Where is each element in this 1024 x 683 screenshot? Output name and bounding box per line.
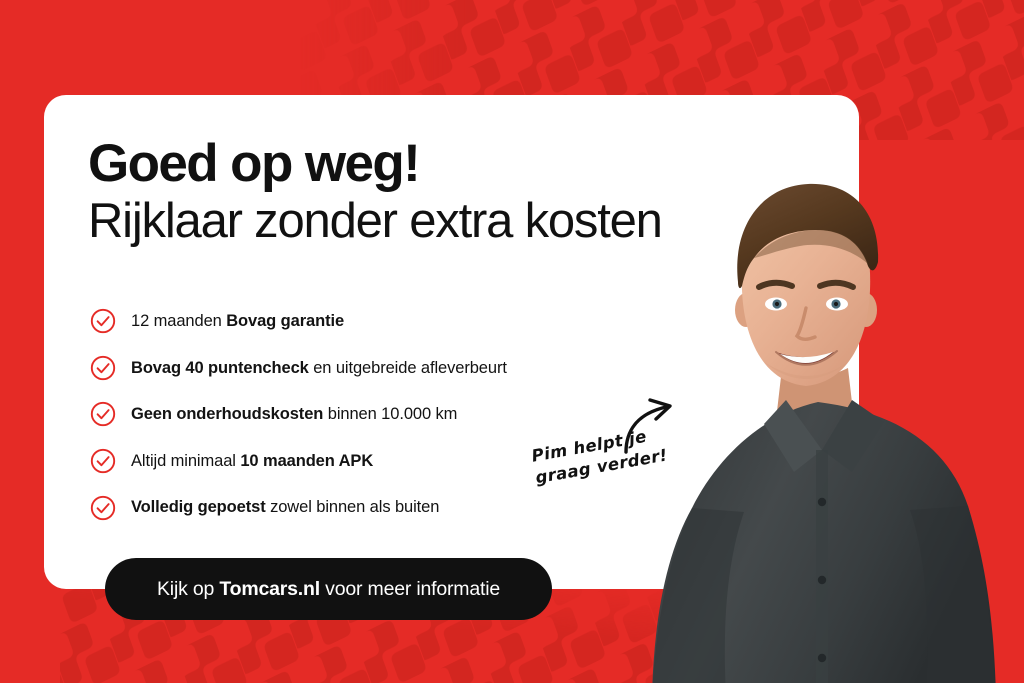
list-item: Altijd minimaal 10 maanden APK	[90, 438, 730, 485]
cta-brand: Tomcars.nl	[219, 578, 320, 600]
cta-lead: Kijk op	[157, 578, 219, 600]
feature-trail: zowel binnen als buiten	[266, 498, 440, 516]
check-circle-icon	[90, 448, 116, 474]
list-item-label: Geen onderhoudskosten binnen 10.000 km	[131, 406, 457, 423]
list-item-label: Bovag 40 puntencheck en uitgebreide afle…	[131, 360, 507, 377]
feature-strong: Volledig gepoetst	[131, 498, 266, 516]
cta-label: Kijk op Tomcars.nl voor meer informatie	[157, 578, 500, 601]
check-circle-icon	[90, 308, 116, 334]
feature-strong: 10 maanden APK	[240, 452, 373, 470]
check-circle-icon	[90, 495, 116, 521]
headline-block: Goed op weg! Rijklaar zonder extra koste…	[88, 136, 788, 249]
cta-button[interactable]: Kijk op Tomcars.nl voor meer informatie	[105, 558, 552, 620]
feature-list: 12 maanden Bovag garantie Bovag 40 punte…	[90, 298, 730, 531]
promo-banner: Goed op weg! Rijklaar zonder extra koste…	[0, 0, 1024, 683]
feature-lead: Altijd minimaal	[131, 452, 240, 470]
page-title: Goed op weg!	[88, 136, 788, 192]
list-item-label: 12 maanden Bovag garantie	[131, 313, 344, 330]
list-item: Geen onderhoudskosten binnen 10.000 km	[90, 391, 730, 438]
list-item-label: Volledig gepoetst zowel binnen als buite…	[131, 499, 439, 516]
check-circle-icon	[90, 401, 116, 427]
feature-strong: Bovag 40 puntencheck	[131, 359, 309, 377]
list-item: 12 maanden Bovag garantie	[90, 298, 730, 345]
cta-trail: voor meer informatie	[320, 578, 500, 600]
feature-trail: en uitgebreide afleverbeurt	[309, 359, 507, 377]
page-subtitle: Rijklaar zonder extra kosten	[88, 194, 788, 249]
list-item: Bovag 40 puntencheck en uitgebreide afle…	[90, 345, 730, 392]
feature-lead: 12 maanden	[131, 312, 226, 330]
list-item: Volledig gepoetst zowel binnen als buite…	[90, 484, 730, 531]
feature-strong: Geen onderhoudskosten	[131, 405, 323, 423]
check-circle-icon	[90, 355, 116, 381]
feature-strong: Bovag garantie	[226, 312, 344, 330]
feature-trail: binnen 10.000 km	[323, 405, 457, 423]
list-item-label: Altijd minimaal 10 maanden APK	[131, 453, 373, 470]
